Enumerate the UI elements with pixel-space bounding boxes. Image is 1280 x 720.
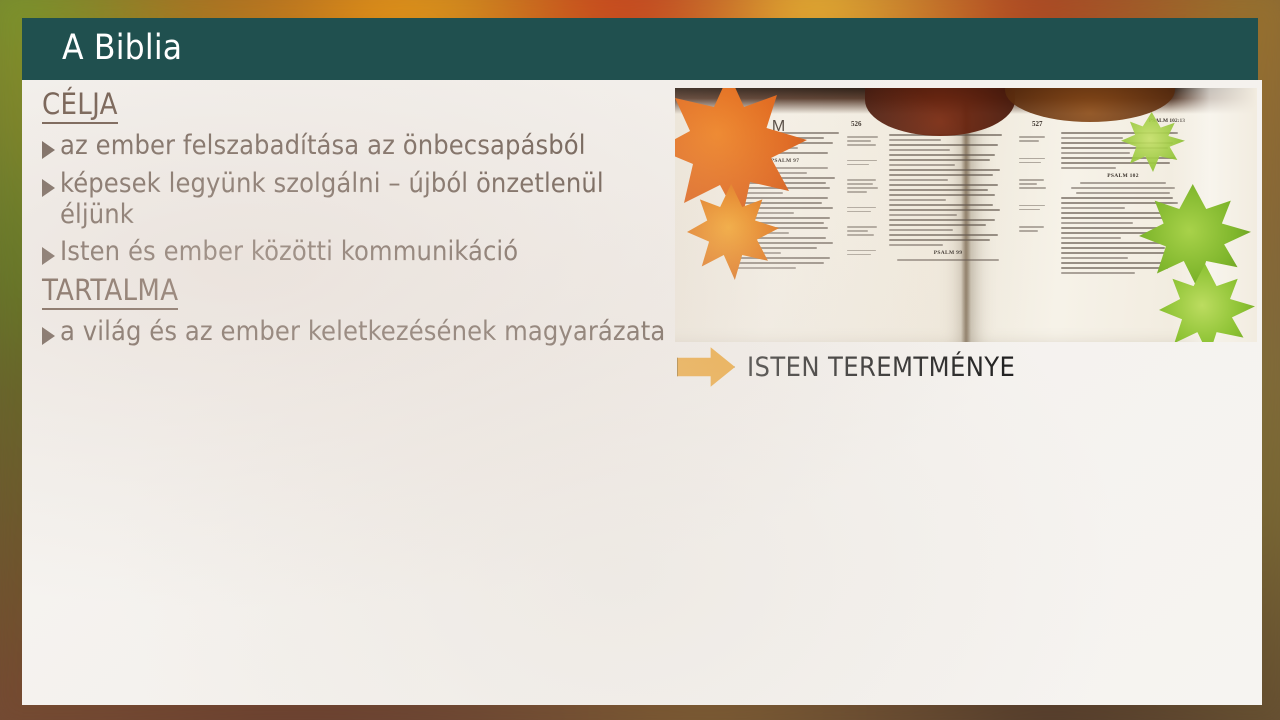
bible-psalm-heading: PSALM 102:13 xyxy=(1075,118,1185,124)
list-item: az ember felszabadítása az önbecsapásból xyxy=(40,130,680,161)
bullet-text: a világ és az ember keletkezésének magya… xyxy=(60,316,665,347)
bible-psalm-heading: PSALM 99 xyxy=(889,250,1007,256)
open-bible-photo: 526 527 PSALM 96:13 PSALM 97 xyxy=(675,88,1257,342)
bullet-text-column: CÉLJA az ember felszabadítása az önbecsa… xyxy=(40,88,680,354)
bullet-text: Isten és ember közötti kommunikáció xyxy=(60,236,518,267)
bullet-text: képesek legyünk szolgálni – újból önzetl… xyxy=(60,168,680,231)
bible-top-shadow xyxy=(675,88,1257,114)
bible-text-block: PSALM 102 xyxy=(1061,132,1185,277)
section-heading-tartalma-wrap: TARTALMA xyxy=(40,274,680,316)
bible-page-number-right: 527 xyxy=(1032,120,1043,128)
list-item: képesek legyünk szolgálni – újból önzetl… xyxy=(40,168,680,231)
section-heading-celja-wrap: CÉLJA xyxy=(40,88,680,130)
triangle-bullet-icon xyxy=(42,141,55,159)
triangle-bullet-icon xyxy=(42,327,55,345)
bible-reference-column xyxy=(1019,136,1049,234)
list-item: Isten és ember közötti kommunikáció xyxy=(40,236,680,267)
bible-reference-column xyxy=(847,136,881,258)
title-banner: A Biblia xyxy=(22,18,1258,80)
figure-caption: ISTEN TEREMTMÉNYE xyxy=(747,352,1015,383)
bullet-text: az ember felszabadítása az önbecsapásból xyxy=(60,130,586,161)
section-heading-celja: CÉLJA xyxy=(42,88,118,124)
bible-text-block: PSALM 97 xyxy=(731,132,839,272)
bible-psalm-heading: PSALM 97 xyxy=(731,158,839,164)
right-arrow-icon xyxy=(677,346,735,388)
slide-content-sheet: CÉLJA az ember felszabadítása az önbecsa… xyxy=(22,80,1262,705)
slide-root: A Biblia CÉLJA az ember felszabadítása a… xyxy=(0,0,1280,720)
page-title: A Biblia xyxy=(62,28,182,68)
list-item: a világ és az ember keletkezésének magya… xyxy=(40,316,680,347)
bible-page-number-left: 526 xyxy=(851,120,862,128)
bible-psalm-heading: PSALM 102 xyxy=(1061,173,1185,179)
triangle-bullet-icon xyxy=(42,179,55,197)
bible-page-edge-highlight xyxy=(1171,88,1257,342)
section-heading-tartalma: TARTALMA xyxy=(42,274,178,310)
figure-caption-row: ISTEN TEREMTMÉNYE xyxy=(677,346,1015,388)
triangle-bullet-icon xyxy=(42,247,55,265)
bible-text-block: PSALM 99 xyxy=(889,134,1007,264)
